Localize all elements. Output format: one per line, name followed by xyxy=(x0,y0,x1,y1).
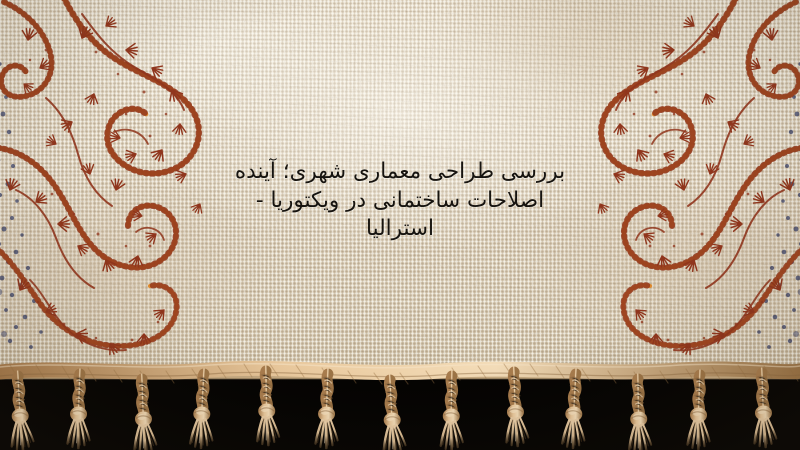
title-line-2: اصلاحات ساختمانی در ویکتوریا - xyxy=(165,187,635,216)
title-line-1: بررسی طراحی معماری شهری؛ آینده xyxy=(165,158,635,187)
black-band-background xyxy=(0,374,800,450)
cloth-selvedge-edge xyxy=(0,364,800,379)
slide-canvas: بررسی طراحی معماری شهری؛ آینده اصلاحات س… xyxy=(0,0,800,450)
title-line-3: استرالیا xyxy=(165,215,635,244)
slide-title: بررسی طراحی معماری شهری؛ آینده اصلاحات س… xyxy=(165,158,635,244)
